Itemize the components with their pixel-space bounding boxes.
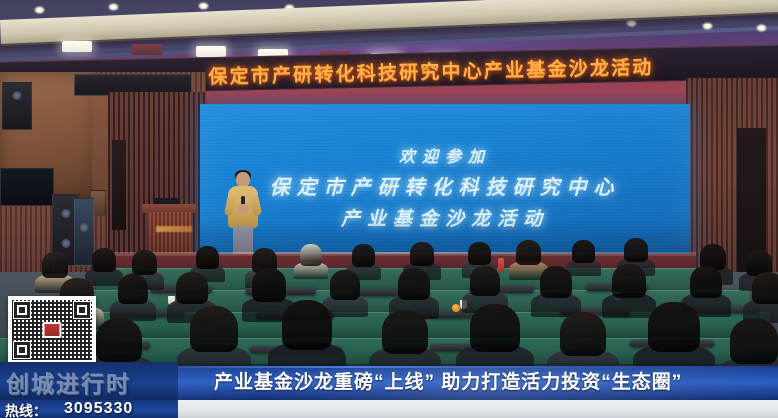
audience-member	[752, 272, 778, 304]
audience-member-hair	[560, 312, 606, 356]
qr-finder-bottom-left	[13, 341, 31, 359]
led-presentation-screen: 欢迎参加 保定市产研转化科技研究中心 产业基金沙龙活动	[200, 104, 690, 264]
audience-member	[612, 264, 646, 298]
audience-member	[572, 240, 595, 263]
wall-monitor	[0, 168, 54, 206]
bottle-on-desk	[498, 258, 504, 272]
audience-member	[382, 310, 428, 354]
orange-on-desk	[452, 304, 460, 312]
audience-member	[330, 270, 360, 300]
qr-finder-top-right	[73, 301, 91, 319]
ceiling-spotlight	[34, 6, 45, 14]
audience-member	[730, 318, 778, 364]
audience-member-hair	[730, 318, 778, 364]
audience-member-hair	[624, 238, 648, 262]
audience-member	[516, 240, 541, 265]
audience-member	[96, 318, 142, 362]
audience-member	[470, 304, 520, 352]
podium	[142, 204, 196, 258]
audience-member	[42, 252, 68, 278]
speaker-cone-icon	[62, 239, 71, 248]
audience-member-hair	[410, 242, 434, 266]
ceiling-spotlight	[198, 2, 209, 10]
audience-member	[118, 274, 148, 304]
audience-member-hair	[352, 244, 375, 267]
audience-member	[690, 266, 722, 298]
audience-member-hair	[540, 266, 572, 298]
ceiling-light-panel	[132, 44, 162, 55]
audience-member-hair	[752, 272, 778, 304]
audience-member	[470, 266, 500, 296]
audience-member	[410, 242, 434, 266]
audience-member	[540, 266, 572, 298]
audience-member-hair	[468, 242, 491, 265]
audience-member-hair	[92, 248, 116, 272]
audience-member-hair	[282, 300, 332, 350]
audience-member-hair	[252, 268, 286, 302]
presenter-head	[236, 172, 250, 187]
ceiling-light-panel	[62, 41, 92, 52]
audience-member-hair	[42, 252, 68, 278]
led-line-2: 保定市产研转化科技研究中心	[270, 171, 621, 200]
lower-third: 创城进行时 产业基金沙龙重磅“上线” 助力打造活力投资“生态圈” 热线： 309…	[0, 366, 778, 418]
speaker-cone-icon	[80, 223, 89, 232]
led-line-1: 欢迎参加	[399, 143, 491, 167]
audience-member	[398, 268, 430, 300]
audience-member	[132, 250, 157, 275]
speaker-cabinet-floor-b	[74, 198, 94, 266]
hotline-label: 热线：	[5, 401, 47, 418]
audience-member-hair	[330, 270, 360, 300]
qr-center-logo	[43, 322, 62, 338]
program-brand-block: 创城进行时	[0, 362, 178, 400]
audience-member-hair	[190, 306, 238, 352]
audience-member	[300, 244, 322, 266]
audience-member	[560, 312, 606, 356]
audience-member	[648, 302, 700, 352]
audience-member	[282, 300, 332, 350]
audience-member-hair	[196, 246, 219, 269]
ceiling-light-panel	[196, 46, 226, 57]
program-brand-label: 创城进行时	[6, 365, 131, 399]
ceiling-spotlight	[756, 24, 767, 32]
podium-nameplate	[156, 226, 192, 232]
audience-member	[352, 244, 375, 267]
audience-member-hair	[118, 274, 148, 304]
audience-member-hair	[300, 244, 322, 266]
audience-member-hair	[96, 318, 142, 362]
audience-member	[252, 268, 286, 302]
audience-member-hair	[648, 302, 700, 352]
qr-finder-top-left	[13, 301, 31, 319]
audience-member	[92, 248, 116, 272]
audience-member	[196, 246, 219, 269]
speaker-cone-icon	[62, 209, 71, 218]
ceiling-spotlight	[108, 3, 119, 11]
speaker-cone-icon	[13, 91, 22, 100]
audience-member-hair	[470, 304, 520, 352]
audience-member-hair	[612, 264, 646, 298]
presenter-hands	[237, 204, 249, 214]
audience-member-hair	[470, 266, 500, 296]
qr-code-overlay[interactable]	[8, 296, 96, 364]
audience-member	[176, 272, 208, 304]
speaker-cabinet-upper	[2, 82, 32, 130]
hotline-number: 3095330	[64, 400, 133, 418]
audience-member-hair	[176, 272, 208, 304]
qr-code-icon	[12, 300, 92, 360]
audience-member	[624, 238, 648, 262]
audience-member-hair	[382, 310, 428, 354]
broadcast-screenshot: 保定市产研转化科技研究中心产业基金沙龙活动 欢迎参加 保定市产研转化科技研究中心…	[0, 0, 778, 418]
audience-member-hair	[572, 240, 595, 263]
presenter	[225, 172, 261, 256]
audience-member	[468, 242, 491, 265]
audience-member	[190, 306, 238, 352]
audience-member-hair	[690, 266, 722, 298]
audience-member-hair	[132, 250, 157, 275]
audience-member-hair	[398, 268, 430, 300]
left-door-edge	[112, 140, 126, 230]
audience-member-hair	[516, 240, 541, 265]
news-headline: 产业基金沙龙重磅“上线” 助力打造活力投资“生态圈”	[214, 370, 770, 396]
